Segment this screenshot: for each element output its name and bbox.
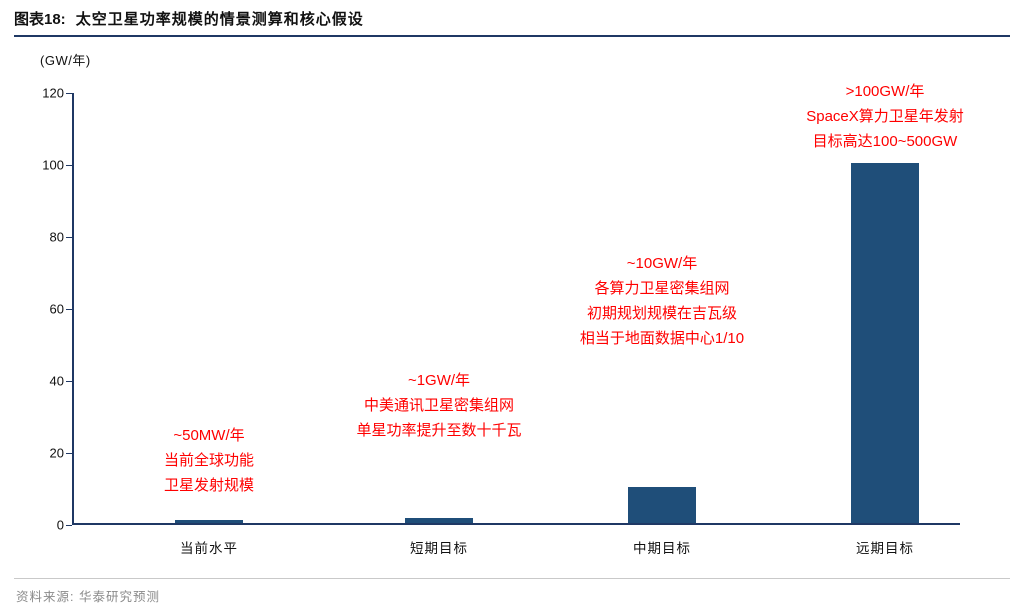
source-value: 华泰研究预测 <box>79 590 160 604</box>
annotation-line: SpaceX算力卫星年发射 <box>806 104 964 129</box>
y-tick-mark <box>66 381 72 382</box>
annotation-mid-term: ~10GW/年 各算力卫星密集组网 初期规划规模在吉瓦级 相当于地面数据中心1/… <box>580 251 744 351</box>
annotation-short-term: ~1GW/年 中美通讯卫星密集组网 单星功率提升至数十千瓦 <box>356 368 521 443</box>
y-tick-label: 120 <box>34 86 64 101</box>
annotation-long-term: >100GW/年 SpaceX算力卫星年发射 目标高达100~500GW <box>806 79 964 154</box>
y-tick-label: 60 <box>34 302 64 317</box>
annotation-line: 目标高达100~500GW <box>806 129 964 154</box>
bar-long-term[interactable] <box>851 163 919 523</box>
annotation-line: ~1GW/年 <box>356 368 521 393</box>
annotation-line: 各算力卫星密集组网 <box>580 276 744 301</box>
page-title: 太空卫星功率规模的情景测算和核心假设 <box>76 8 364 29</box>
x-tick-label-current-level: 当前水平 <box>180 537 238 557</box>
bar-current-level[interactable] <box>175 520 243 523</box>
annotation-line: 中美通讯卫星密集组网 <box>356 393 521 418</box>
footer-divider <box>14 578 1010 579</box>
header-row: 图表18: 太空卫星功率规模的情景测算和核心假设 <box>14 8 1010 29</box>
annotation-line: 当前全球功能 <box>164 448 254 473</box>
annotation-line: >100GW/年 <box>806 79 964 104</box>
annotation-line: 卫星发射规模 <box>164 473 254 498</box>
figure-label: 图表18: <box>14 8 66 29</box>
header-divider <box>14 35 1010 37</box>
x-tick-label-short-term: 短期目标 <box>410 537 468 557</box>
annotation-line: 相当于地面数据中心1/10 <box>580 326 744 351</box>
y-tick-label: 100 <box>34 158 64 173</box>
source-note: 资料来源: 华泰研究预测 <box>16 586 160 605</box>
chart-header: 图表18: 太空卫星功率规模的情景测算和核心假设 <box>14 8 1010 37</box>
y-tick-mark <box>66 237 72 238</box>
y-tick-label: 80 <box>34 230 64 245</box>
annotation-current-level: ~50MW/年 当前全球功能 卫星发射规模 <box>164 423 254 498</box>
y-tick-mark <box>66 309 72 310</box>
annotation-line: ~10GW/年 <box>580 251 744 276</box>
y-tick-mark <box>66 93 72 94</box>
y-tick-mark <box>66 453 72 454</box>
x-axis-line <box>72 523 960 525</box>
x-tick-label-mid-term: 中期目标 <box>633 537 691 557</box>
y-tick-mark <box>66 525 72 526</box>
bar-mid-term[interactable] <box>628 487 696 523</box>
source-label: 资料来源: <box>16 590 74 604</box>
y-axis-line <box>72 93 74 525</box>
bar-short-term[interactable] <box>405 518 473 523</box>
annotation-line: ~50MW/年 <box>164 423 254 448</box>
y-axis-unit-label: (GW/年) <box>40 50 91 69</box>
y-tick-label: 40 <box>34 374 64 389</box>
chart-plot-area: 0 20 40 60 80 100 120 当前水平 短期目标 中期目标 远期目… <box>72 93 960 525</box>
y-tick-label: 0 <box>34 518 64 533</box>
annotation-line: 初期规划规模在吉瓦级 <box>580 301 744 326</box>
x-tick-label-long-term: 远期目标 <box>856 537 914 557</box>
y-tick-mark <box>66 165 72 166</box>
y-tick-label: 20 <box>34 446 64 461</box>
annotation-line: 单星功率提升至数十千瓦 <box>356 418 521 443</box>
